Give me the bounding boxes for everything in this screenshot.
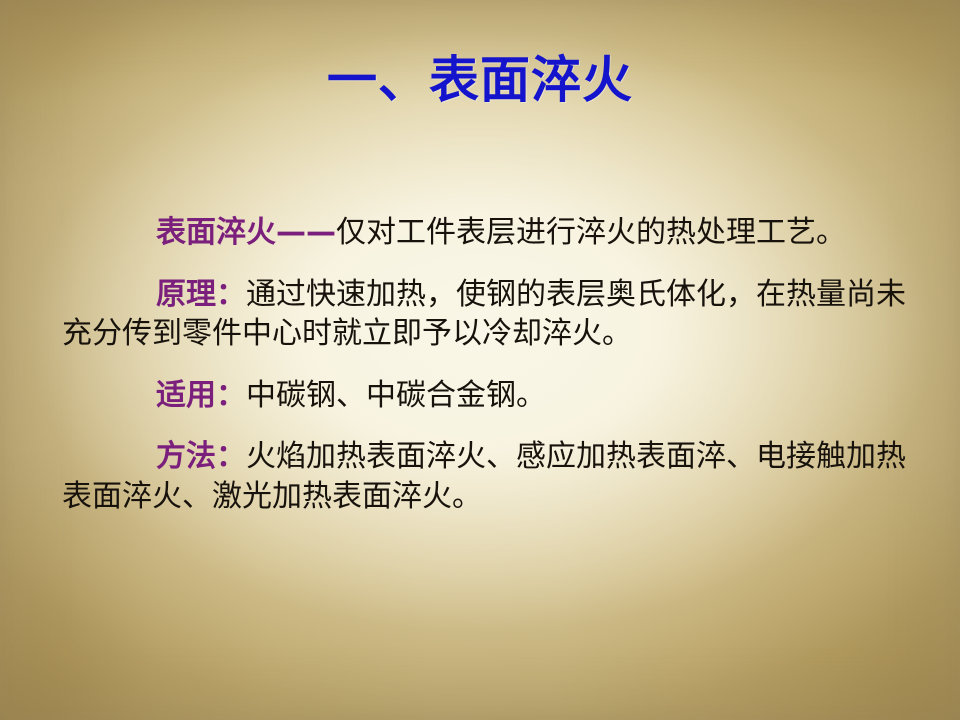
slide-canvas: 一、表面淬火 表面淬火——仅对工件表层进行淬火的热处理工艺。 原理：通过快速加热… <box>0 0 960 720</box>
slide-body: 表面淬火——仅对工件表层进行淬火的热处理工艺。 原理：通过快速加热，使钢的表层奥… <box>62 213 914 517</box>
page-title: 一、表面淬火 <box>0 52 960 110</box>
paragraph-definition: 表面淬火——仅对工件表层进行淬火的热处理工艺。 <box>62 213 914 253</box>
principle-label: 原理： <box>156 277 246 312</box>
application-text: 中碳钢、中碳合金钢。 <box>246 378 546 413</box>
definition-label: 表面淬火 <box>156 215 276 250</box>
paragraph-methods: 方法：火焰加热表面淬火、感应加热表面淬、电接触加热表面淬火、激光加热表面淬火。 <box>62 437 914 516</box>
paragraph-principle: 原理：通过快速加热，使钢的表层奥氏体化，在热量尚未充分传到零件中心时就立即予以冷… <box>62 275 914 354</box>
application-label: 适用： <box>156 378 246 413</box>
definition-text: 仅对工件表层进行淬火的热处理工艺。 <box>336 215 846 250</box>
paragraph-application: 适用：中碳钢、中碳合金钢。 <box>62 376 914 416</box>
definition-separator-dash: —— <box>276 215 336 250</box>
methods-label: 方法： <box>156 439 246 474</box>
